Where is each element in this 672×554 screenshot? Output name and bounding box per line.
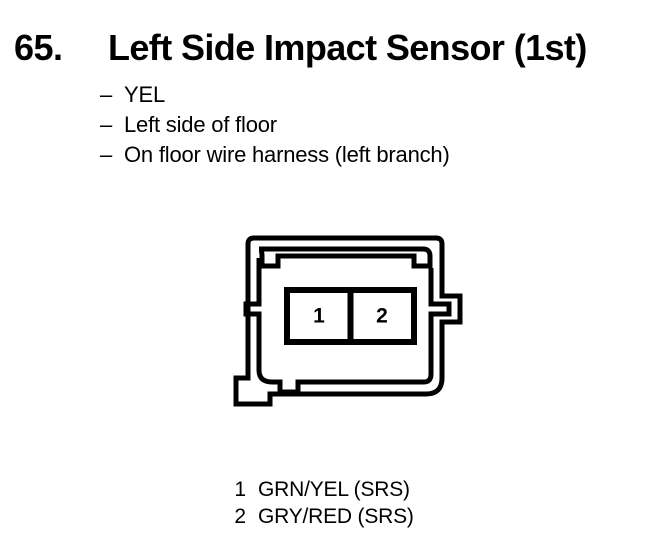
connector-diagram: 1 2: [218, 228, 478, 418]
cavity-label-2: 2: [376, 305, 388, 328]
legend-pin-number: 1: [232, 476, 246, 503]
list-item: – On floor wire harness (left branch): [100, 140, 620, 170]
legend-wire-label: GRY/RED (SRS): [258, 503, 414, 530]
page-header: 65. Left Side Impact Sensor (1st): [0, 26, 672, 72]
page-title: Left Side Impact Sensor (1st): [108, 26, 587, 70]
list-item-label: Left side of floor: [124, 110, 277, 140]
legend-row: 1 GRN/YEL (SRS): [232, 476, 532, 503]
legend-wire-label: GRN/YEL (SRS): [258, 476, 410, 503]
dash-icon: –: [100, 140, 112, 170]
cavity-label-1: 1: [313, 305, 325, 328]
connector-svg: 1 2: [218, 228, 478, 418]
connector-inner-outline: [259, 249, 430, 266]
list-item: – YEL: [100, 80, 620, 110]
specification-list: – YEL – Left side of floor – On floor wi…: [100, 80, 620, 170]
pin-legend: 1 GRN/YEL (SRS) 2 GRY/RED (SRS): [232, 476, 532, 530]
dash-icon: –: [100, 80, 112, 110]
dash-icon: –: [100, 110, 112, 140]
list-item: – Left side of floor: [100, 110, 620, 140]
item-number: 65.: [14, 26, 63, 70]
list-item-label: On floor wire harness (left branch): [124, 140, 450, 170]
list-item-label: YEL: [124, 80, 165, 110]
legend-pin-number: 2: [232, 503, 246, 530]
legend-row: 2 GRY/RED (SRS): [232, 503, 532, 530]
